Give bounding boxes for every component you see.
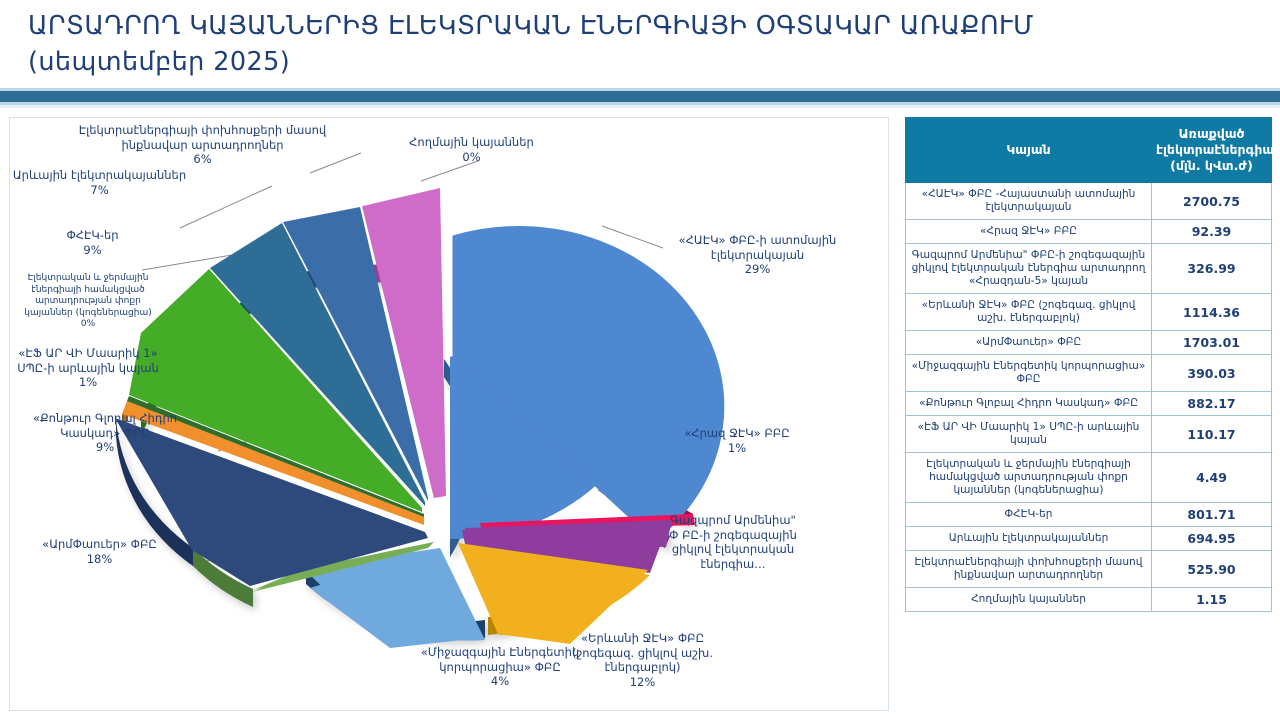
pie-label-autonomous: Էլեկտրաէներգիայի փոխհոսքերի մասով ինքնավ…	[70, 123, 335, 167]
table-row: «ԱրմՓաուեր» ՓԲԸ1703.01	[906, 331, 1272, 355]
table-header-energy-line2: էլեկտրաէներգիա	[1156, 142, 1274, 157]
table-header-energy-line3: (մլն. կՎտ.ժ)	[1170, 158, 1253, 173]
table-header-energy-line1: Առաքված	[1178, 126, 1244, 141]
table-cell-value: 882.17	[1152, 392, 1272, 416]
pie-label-mek: «ԱրմՓաուեր» ՓԲԸ 18%	[12, 537, 187, 566]
table-cell-value: 390.03	[1152, 355, 1272, 392]
table-row: ՓՀԷԿ-եր801.71	[906, 503, 1272, 527]
table-row: «ԷՖ ԱՐ ՎԻ Մաարիկ 1» ՍՊԸ-ի արևային կայան1…	[906, 416, 1272, 453]
table-row: «Քոնթուր Գլոբալ Հիդրո Կասկադ» ՓԲԸ882.17	[906, 392, 1272, 416]
table-cell-value: 4.49	[1152, 453, 1272, 503]
table-cell-station: Հողմային կայաններ	[906, 588, 1152, 612]
table-row: «Միջազգային Էներգետիկ կորպորացիա» ՓԲԸ390…	[906, 355, 1272, 392]
table-cell-station: ՓՀԷԿ-եր	[906, 503, 1152, 527]
divider-line-bold	[0, 91, 1280, 102]
page-title: ԱՐՏԱԴՐՈՂ ԿԱՅԱՆՆԵՐԻՑ ԷԼԵԿՏՐԱԿԱՆ ԷՆԵՐԳԻԱՅԻ…	[28, 8, 1258, 80]
table-row: Էլեկտրաէներգիայի փոխհոսքերի մասով ինքնավ…	[906, 551, 1272, 588]
table-cell-station: «ՀԱԷԿ» ՓԲԸ -Հայաստանի ատոմային էլեկտրակա…	[906, 183, 1152, 220]
pie-label-hrazdan: «Հրազ ՋԷԿ» ԲԲԸ 1%	[662, 426, 812, 455]
table-row: Հողմային կայաններ1.15	[906, 588, 1272, 612]
pie-label-phek: ՓՀԷԿ-եր 9%	[35, 228, 150, 257]
pie-label-cogeneration: Էլեկտրական և ջերմային էներգիայի համակցվա…	[18, 273, 158, 331]
pie-label-contour: «Քոնթուր Գլոբալ Հիդրո Կասկադ» ՓԲԸ 9%	[20, 411, 190, 455]
table-row: Էլեկտրական և ջերմային էներգիայի համակցվա…	[906, 453, 1272, 503]
table-row: «Երևանի ՋԷԿ» ՓԲԸ (շոգեգազ. ցիկլով աշխ. է…	[906, 294, 1272, 331]
table-cell-value: 326.99	[1152, 244, 1272, 294]
table-cell-value: 694.95	[1152, 527, 1272, 551]
table-cell-station: Գազպրոմ Արմենիա" ՓԲԸ-ի շոգեգազային ցիկլո…	[906, 244, 1152, 294]
page-title-line-2: (սեպտեմբեր 2025)	[28, 44, 1258, 80]
table-cell-value: 801.71	[1152, 503, 1272, 527]
pie-label-gazprom: Գազպրոմ Արմենիա" Փ ԲԸ-ի շոգեգազային ցիկլ…	[658, 513, 808, 571]
table-cell-value: 1.15	[1152, 588, 1272, 612]
table-row: «ՀԱԷԿ» ՓԲԸ -Հայաստանի ատոմային էլեկտրակա…	[906, 183, 1272, 220]
table-cell-station: «ԱրմՓաուեր» ՓԲԸ	[906, 331, 1152, 355]
table-cell-value: 1703.01	[1152, 331, 1272, 355]
pie-label-solar: Արևային էլեկտրակայաններ 7%	[12, 168, 187, 197]
table-header-energy: Առաքված էլեկտրաէներգիա (մլն. կՎտ.ժ)	[1152, 118, 1272, 183]
table-cell-station: «ԷՖ ԱՐ ՎԻ Մաարիկ 1» ՍՊԸ-ի արևային կայան	[906, 416, 1152, 453]
table-row: Գազպրոմ Արմենիա" ՓԲԸ-ի շոգեգազային ցիկլո…	[906, 244, 1272, 294]
table-cell-value: 92.39	[1152, 220, 1272, 244]
table-cell-value: 110.17	[1152, 416, 1272, 453]
pie-chart-panel: Էլեկտրաէներգիայի փոխհոսքերի մասով ինքնավ…	[9, 117, 889, 711]
table-cell-value: 1114.36	[1152, 294, 1272, 331]
table-cell-station: «Հրազ ՋԷԿ» ԲԲԸ	[906, 220, 1152, 244]
table-cell-station: «Երևանի ՋԷԿ» ՓԲԸ (շոգեգազ. ցիկլով աշխ. է…	[906, 294, 1152, 331]
table-cell-station: Էլեկտրական և ջերմային էներգիայի համակցվա…	[906, 453, 1152, 503]
divider-line-pale	[0, 105, 1280, 108]
table-cell-station: «Քոնթուր Գլոբալ Հիդրո Կասկադ» ՓԲԸ	[906, 392, 1152, 416]
table-cell-value: 525.90	[1152, 551, 1272, 588]
table-row: «Հրազ ՋԷԿ» ԲԲԸ92.39	[906, 220, 1272, 244]
pie-label-frv: «ԷՖ ԱՐ ՎԻ Մաարիկ 1» ՍՊԸ-ի արևային կայան …	[12, 346, 164, 390]
table-cell-station: Էլեկտրաէներգիայի փոխհոսքերի մասով ինքնավ…	[906, 551, 1152, 588]
table-cell-value: 2700.75	[1152, 183, 1272, 220]
table-header-row: Կայան Առաքված էլեկտրաէներգիա (մլն. կՎտ.ժ…	[906, 118, 1272, 183]
header-divider	[0, 88, 1280, 108]
table-row: Արևային էլեկտրակայաններ694.95	[906, 527, 1272, 551]
page-title-line-1: ԱՐՏԱԴՐՈՂ ԿԱՅԱՆՆԵՐԻՑ ԷԼԵԿՏՐԱԿԱՆ ԷՆԵՐԳԻԱՅԻ…	[28, 8, 1258, 44]
table-header-station: Կայան	[906, 118, 1152, 183]
energy-table-panel: Կայան Առաքված էլեկտրաէներգիա (մլն. կՎտ.ժ…	[905, 117, 1271, 612]
pie-label-hogmayin: Հողմային կայաններ 0%	[389, 135, 554, 164]
table-cell-station: «Միջազգային Էներգետիկ կորպորացիա» ՓԲԸ	[906, 355, 1152, 392]
energy-table: Կայան Առաքված էլեկտրաէներգիա (մլն. կՎտ.ժ…	[905, 117, 1272, 612]
table-cell-station: Արևային էլեկտրակայաններ	[906, 527, 1152, 551]
pie-label-armpower: «Միջազգային Էներգետիկ կորպորացիա» ՓԲԸ 4%	[410, 645, 590, 689]
pie-label-haek: «ՀԱԷԿ» ՓԲԸ-ի ատոմային էլեկտրակայան 29%	[665, 233, 850, 277]
